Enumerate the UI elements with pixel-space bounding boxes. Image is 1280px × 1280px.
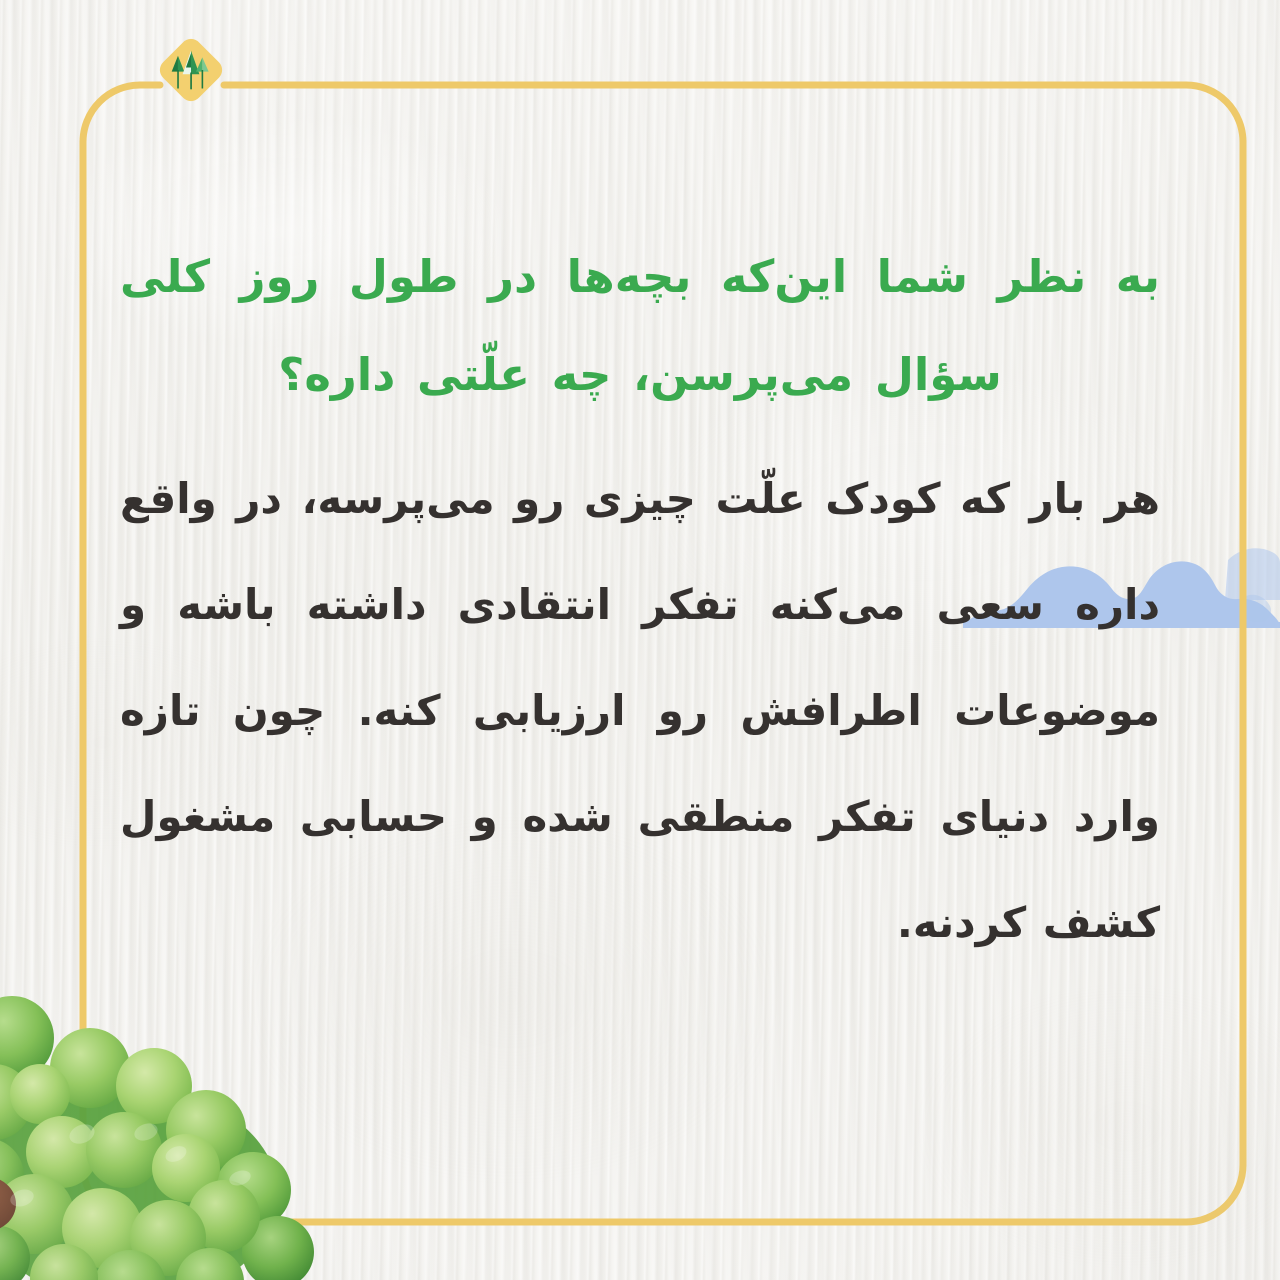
slide-card: به نظر شما این‌که بچه‌ها در طول روز کلی … xyxy=(0,0,1280,1280)
page-title: به نظر شما این‌که بچه‌ها در طول روز کلی … xyxy=(120,228,1160,424)
body-paragraph: هر بار که کودک علّت چیزی رو می‌پرسه، در … xyxy=(120,446,1160,976)
three-trees-diamond-logo xyxy=(149,28,233,112)
body-text: هر بار که کودک علّت چیزی رو می‌پرسه، در … xyxy=(120,474,1160,947)
headline-text: به نظر شما این‌که بچه‌ها در طول روز کلی … xyxy=(120,250,1160,401)
text-content: به نظر شما این‌که بچه‌ها در طول روز کلی … xyxy=(120,228,1160,976)
